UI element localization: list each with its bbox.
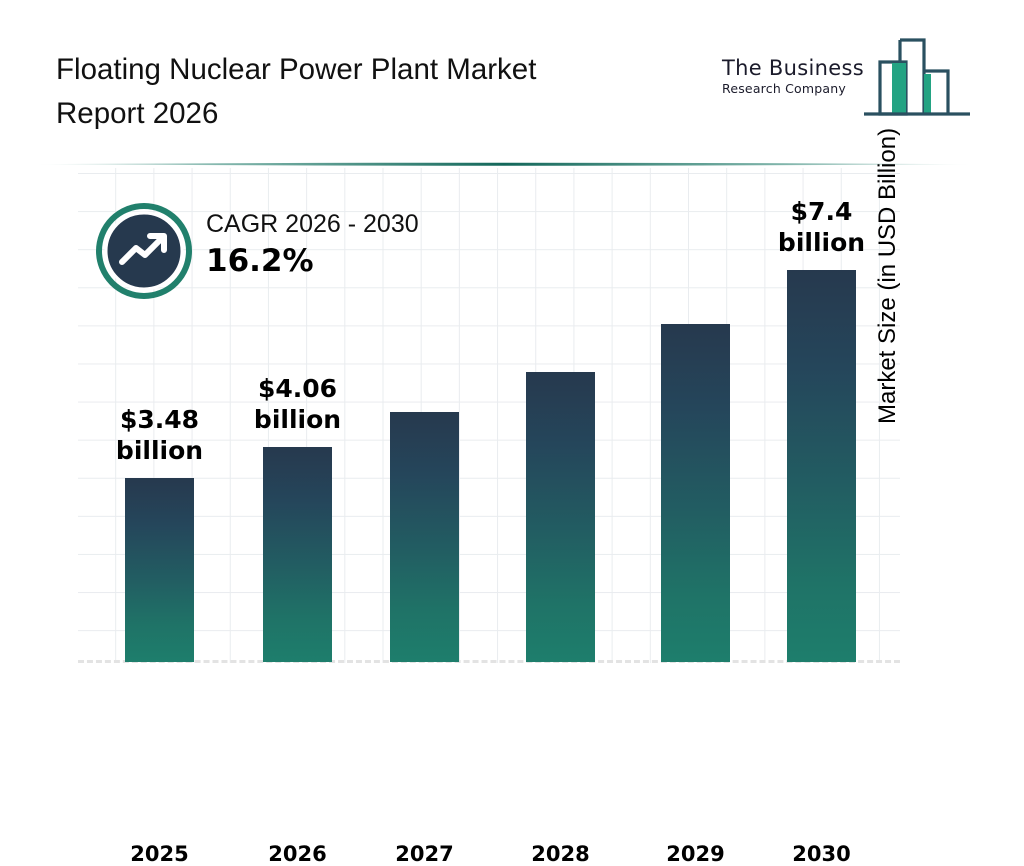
logo-text-line-1: The Business [722,56,872,80]
x-axis-tick-2025: 2025 [95,842,224,866]
cagr-badge: CAGR 2026 - 2030 16.2% [96,200,516,318]
logo-text-line-2: Research Company [722,81,872,96]
bar-value-label-amount: $3.48 [87,404,232,435]
bar-value-label-unit: billion [87,435,232,466]
x-axis-tick-2030: 2030 [757,842,886,866]
cagr-text-block: CAGR 2026 - 2030 16.2% [206,208,419,282]
page-title-line-1: Floating Nuclear Power Plant Market [56,48,676,92]
bar-2025 [125,478,194,662]
bar-value-label-2030: $7.4billion [749,196,894,258]
bar-2029 [661,324,730,662]
slide-header: Floating Nuclear Power Plant Market Repo… [0,0,1024,160]
x-axis-tick-2027: 2027 [360,842,489,866]
x-axis-tick-2028: 2028 [496,842,625,866]
cagr-title: CAGR 2026 - 2030 [206,208,419,240]
cagr-value: 16.2% [206,240,419,282]
bar-value-label-amount: $7.4 [749,196,894,227]
page-title: Floating Nuclear Power Plant Market Repo… [56,48,676,136]
page-title-line-2: Report 2026 [56,92,676,136]
logo-wordmark: The Business Research Company [722,56,872,96]
y-axis-label: Market Size (in USD Billion) [874,4,902,424]
company-logo: The Business Research Company [722,34,972,130]
x-axis-tick-2029: 2029 [631,842,760,866]
bar-value-label-unit: billion [749,227,894,258]
bar-value-label-unit: billion [225,404,370,435]
slide-canvas: Floating Nuclear Power Plant Market Repo… [0,0,1024,768]
x-axis-tick-2026: 2026 [233,842,362,866]
header-divider [34,155,974,163]
bar-2027 [390,412,459,662]
trending-up-arrow-icon [96,203,192,299]
bar-2026 [263,447,332,662]
bar-value-label-2025: $3.48billion [87,404,232,466]
bar-2030 [787,270,856,662]
bar-value-label-2026: $4.06billion [225,373,370,435]
bar-value-label-amount: $4.06 [225,373,370,404]
bar-2028 [526,372,595,662]
